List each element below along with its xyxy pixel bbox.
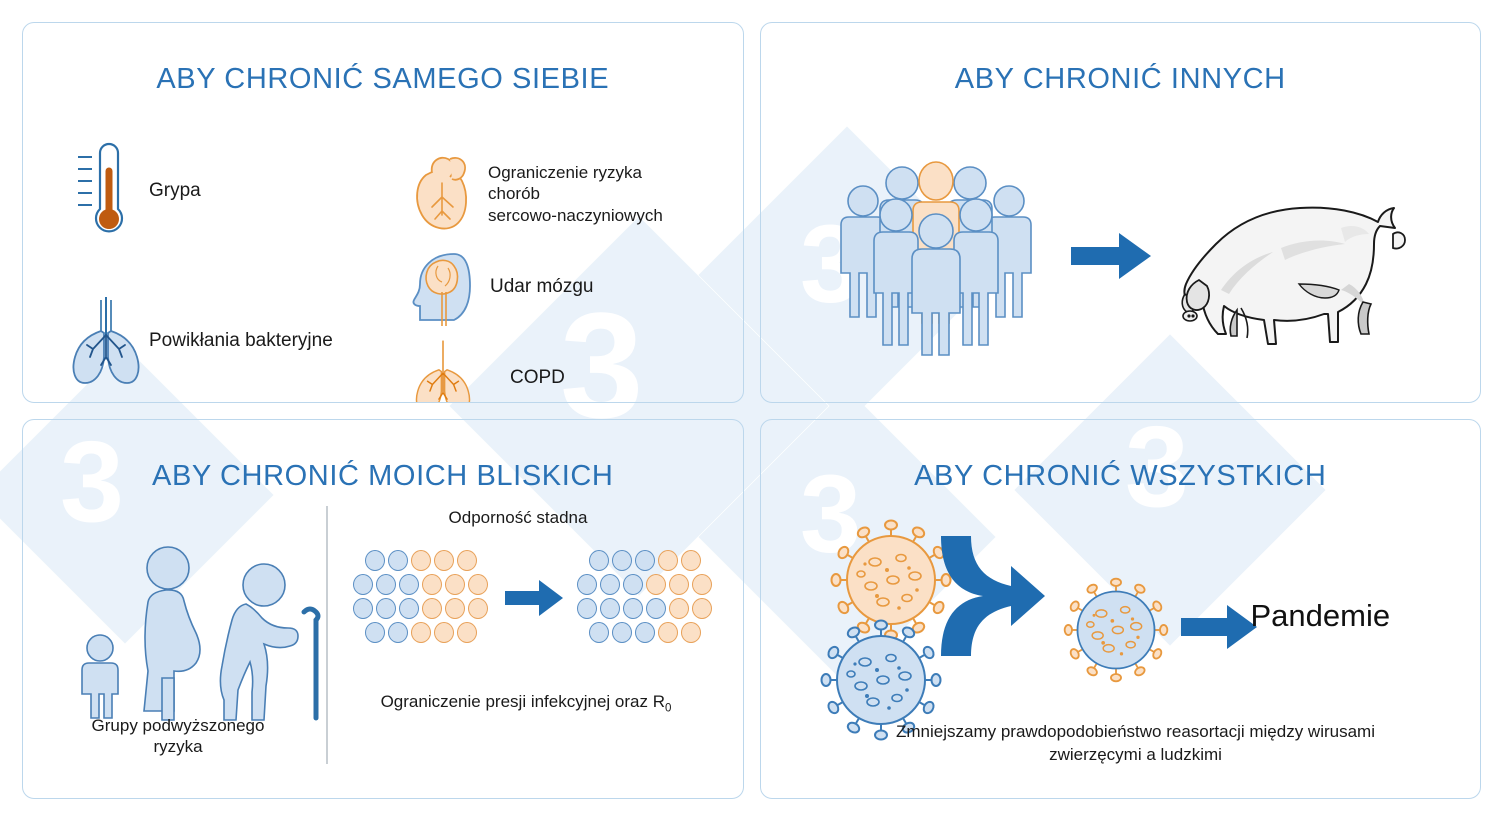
dot-orange: [422, 598, 442, 619]
dot-blue: [635, 622, 655, 643]
panel-title-protect-close: ABY CHRONIĆ MOICH BLISKICH: [23, 460, 743, 493]
elderly-person-icon: [220, 564, 298, 720]
reassortment-caption: Zmniejszamy prawdopodobieństwo reasortac…: [806, 720, 1466, 768]
dot-row: [589, 550, 716, 571]
thermometer-icon: [63, 143, 149, 239]
dot-blue: [612, 550, 632, 571]
risk-group-caption: Grupy podwyższonego ryzyka: [43, 715, 313, 758]
dot-blue: [589, 550, 609, 571]
item-label-cvd: Ograniczenie ryzyka chorób sercowo-naczy…: [488, 162, 663, 226]
heart-icon: [408, 153, 478, 235]
reassortment-line-2: zwierzęcymi a ludzkimi: [1049, 745, 1222, 764]
dot-orange: [681, 550, 701, 571]
herd-immunity-diagram: [353, 550, 715, 646]
dot-blue: [623, 598, 643, 619]
cvd-line-2: chorób: [488, 184, 540, 203]
dot-orange: [468, 598, 488, 619]
dot-blue: [399, 598, 419, 619]
reassortment-line-1: Zmniejszamy prawdopodobieństwo reasortac…: [896, 722, 1375, 741]
infographic-root: 3 3 3 3 3 ABY CHRONIĆ SAMEGO SIEBIE: [0, 0, 1503, 821]
dot-blue: [399, 574, 419, 595]
dot-blue: [635, 550, 655, 571]
item-label-grypa: Grypa: [149, 179, 201, 203]
dot-orange: [411, 622, 431, 643]
dot-orange: [692, 574, 712, 595]
herd-caption-text: Ograniczenie presji infekcyjnej oraz R: [381, 692, 665, 711]
panel-protect-self: ABY CHRONIĆ SAMEGO SIEBIE: [22, 22, 744, 403]
dot-row: [353, 574, 491, 595]
panel-protect-all: ABY CHRONIĆ WSZYSTKICH: [760, 419, 1482, 800]
dot-orange: [445, 574, 465, 595]
self-left-items: Grypa Powikłania: [63, 143, 393, 403]
risk-group-figures: [68, 530, 318, 720]
dot-orange: [658, 550, 678, 571]
dot-orange: [669, 598, 689, 619]
dot-orange: [681, 622, 701, 643]
merge-arrow-icon: [941, 530, 1081, 690]
dot-row: [577, 574, 715, 595]
panel-title-protect-self: ABY CHRONIĆ SAMEGO SIEBIE: [23, 63, 743, 96]
virus-hybrid-icon: [1061, 575, 1171, 685]
dot-orange: [445, 598, 465, 619]
dot-blue: [353, 598, 373, 619]
dot-orange: [422, 574, 442, 595]
dot-orange: [457, 622, 477, 643]
dot-orange: [434, 622, 454, 643]
dot-blue: [600, 598, 620, 619]
dot-blue: [589, 622, 609, 643]
dot-orange: [646, 574, 666, 595]
herd-grid-before: [353, 550, 491, 646]
dot-blue: [376, 574, 396, 595]
herd-immunity-caption: Ograniczenie presji infekcyjnej oraz R0: [341, 692, 711, 714]
dot-orange: [457, 550, 477, 571]
herd-immunity-title: Odporność stadna: [353, 508, 683, 528]
child-icon: [82, 635, 118, 718]
dot-row: [577, 598, 715, 619]
dot-orange: [692, 598, 712, 619]
crowd-icon: [836, 153, 1036, 353]
cvd-line-3: sercowo-naczyniowych: [488, 206, 663, 225]
right-arrow-icon: [1071, 233, 1151, 279]
pig-icon: [1181, 198, 1411, 358]
dot-blue: [577, 574, 597, 595]
item-label-udar: Udar mózgu: [490, 275, 594, 299]
dot-blue: [376, 598, 396, 619]
herd-arrow-icon: [505, 580, 563, 616]
item-udar: Udar mózgu: [408, 248, 594, 326]
item-powiklania: Powikłania bakteryjne: [63, 295, 393, 387]
dot-blue: [646, 598, 666, 619]
dot-row: [365, 622, 492, 643]
item-grypa: Grypa: [63, 143, 393, 239]
dot-orange: [411, 550, 431, 571]
dot-blue: [612, 622, 632, 643]
dot-row: [589, 622, 716, 643]
item-label-powiklania: Powikłania bakteryjne: [149, 329, 333, 353]
panel-protect-others: ABY CHRONIĆ INNYCH: [760, 22, 1482, 403]
item-copd: COPD: [408, 338, 565, 403]
risk-caption-line-2: ryzyka: [153, 737, 202, 756]
dot-blue: [600, 574, 620, 595]
vertical-divider: [326, 506, 328, 764]
dot-blue: [353, 574, 373, 595]
dot-blue: [577, 598, 597, 619]
herd-caption-subscript: 0: [665, 702, 671, 714]
panel-protect-close: ABY CHRONIĆ MOICH BLISKICH: [22, 419, 744, 800]
dot-orange: [434, 550, 454, 571]
lungs-orange-icon: [408, 338, 478, 403]
dot-blue: [388, 622, 408, 643]
cvd-line-1: Ograniczenie ryzyka: [488, 163, 642, 182]
risk-caption-line-1: Grupy podwyższonego: [92, 716, 265, 735]
head-brain-icon: [408, 248, 478, 326]
dot-orange: [669, 574, 689, 595]
dot-blue: [365, 622, 385, 643]
dot-blue: [388, 550, 408, 571]
pregnant-woman-icon: [144, 547, 200, 720]
item-cvd: Ograniczenie ryzyka chorób sercowo-naczy…: [408, 153, 663, 235]
dot-blue: [365, 550, 385, 571]
herd-grid-after: [577, 550, 715, 646]
pandemic-label: Pandemie: [1251, 598, 1391, 634]
dot-row: [353, 598, 491, 619]
pandemic-arrow-icon: [1181, 605, 1257, 649]
dot-blue: [623, 574, 643, 595]
lungs-blue-icon: [63, 295, 149, 387]
dot-orange: [468, 574, 488, 595]
dot-orange: [658, 622, 678, 643]
panel-title-protect-all: ABY CHRONIĆ WSZYSTKICH: [761, 460, 1481, 493]
panel-title-protect-others: ABY CHRONIĆ INNYCH: [761, 63, 1481, 96]
item-label-copd: COPD: [510, 366, 565, 390]
dot-row: [365, 550, 492, 571]
